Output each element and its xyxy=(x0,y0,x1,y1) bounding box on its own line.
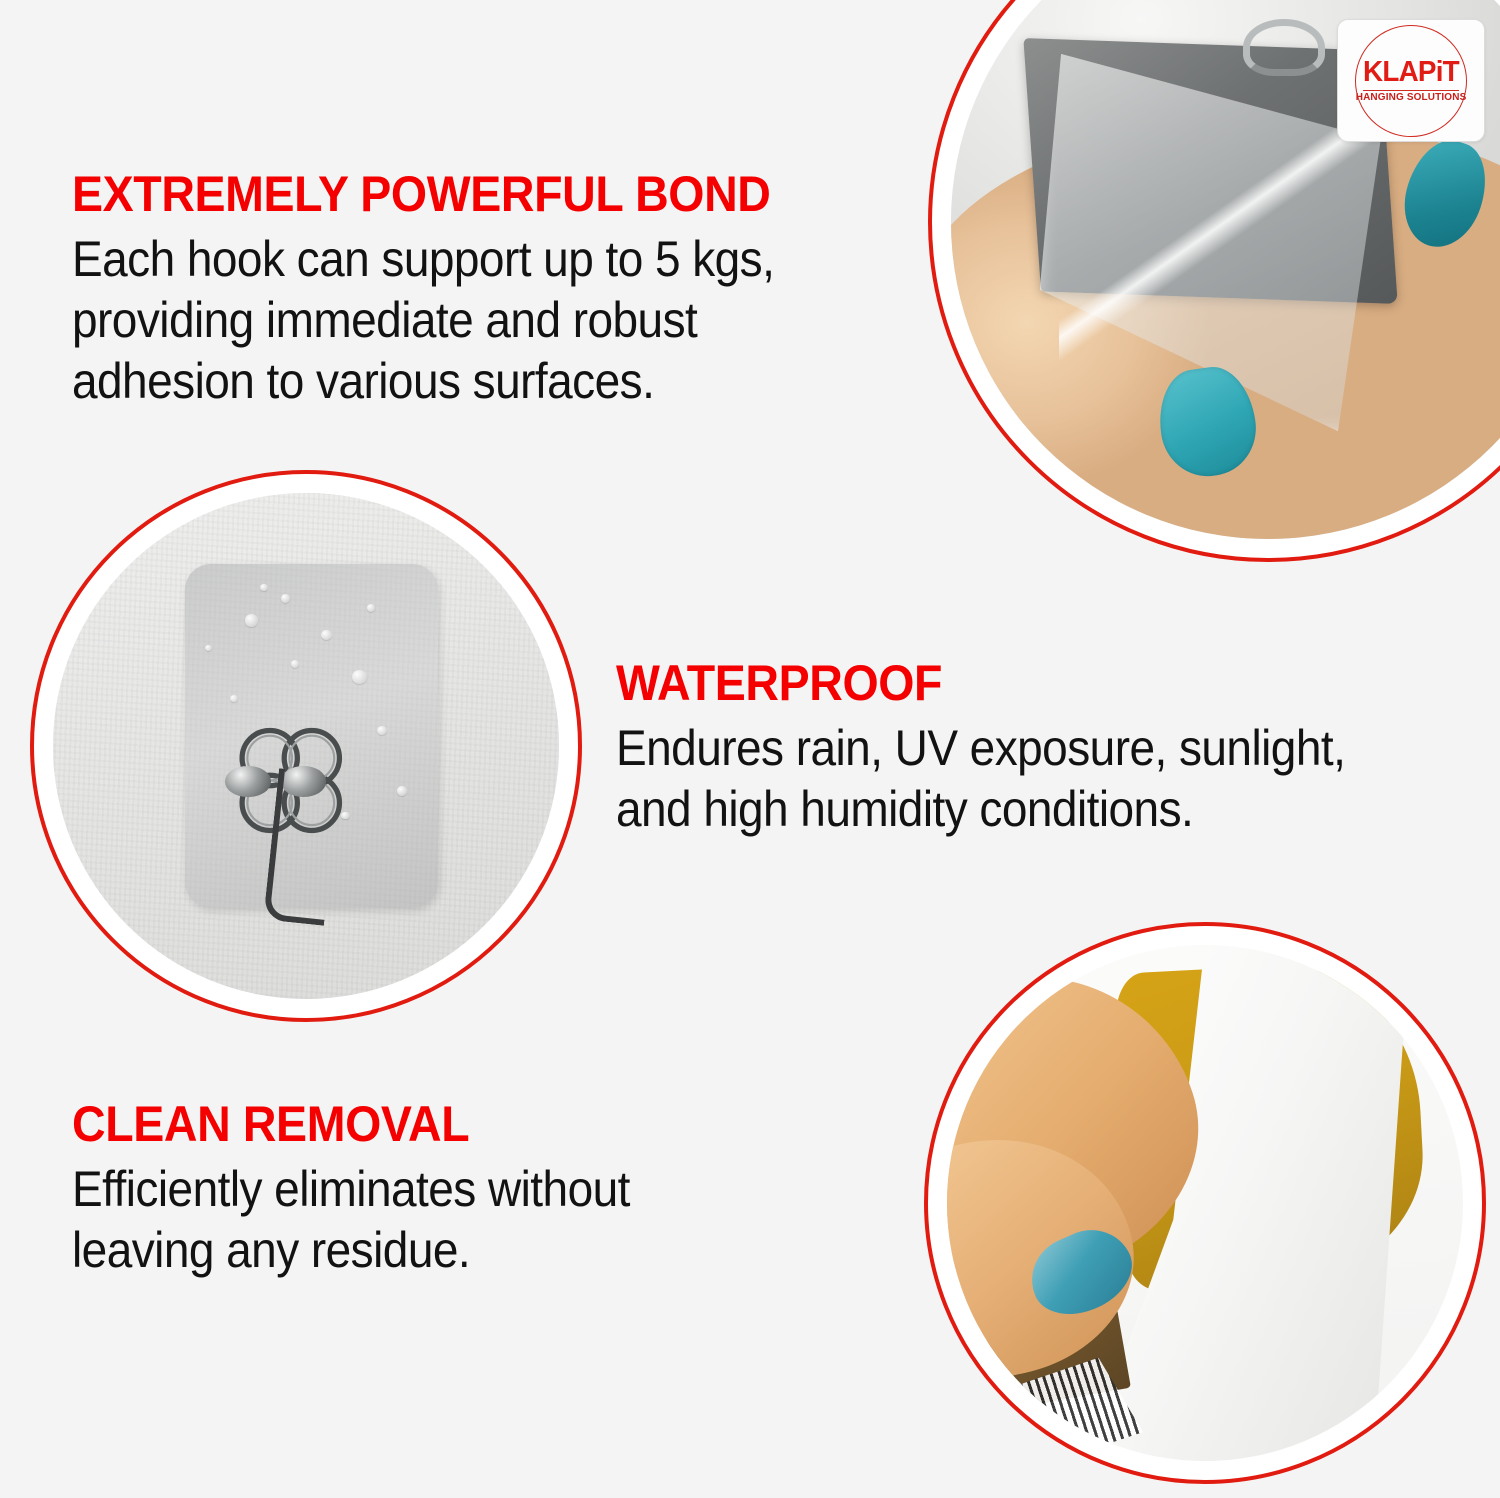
feature-body-line: providing immediate and robust xyxy=(72,290,900,351)
brand-tagline: HANGING SOLUTIONS xyxy=(1356,93,1467,103)
brand-name: KLAPiT xyxy=(1363,58,1459,87)
brand-logo: KLAPiT HANGING SOLUTIONS xyxy=(1337,19,1485,142)
water-droplet xyxy=(245,614,258,626)
feature-heading-waterproof: WATERPROOF xyxy=(616,657,1434,710)
feature-body-line: Each hook can support up to 5 kgs, xyxy=(72,229,900,290)
feature-body-line: and high humidity conditions. xyxy=(616,779,1426,840)
feature-image-clean-removal xyxy=(924,922,1486,1484)
hook-knob-left xyxy=(225,766,271,796)
feature-body-clean-removal: Efficiently eliminates without leaving a… xyxy=(72,1159,808,1281)
feature-image-waterproof xyxy=(30,470,582,1022)
water-droplet xyxy=(291,660,299,668)
brand-divider-rule xyxy=(1363,90,1459,92)
product-feature-infographic: EXTREMELY POWERFUL BOND Each hook can su… xyxy=(0,0,1500,1498)
feature-body-line: adhesion to various surfaces. xyxy=(72,351,900,412)
feature-block-waterproof: WATERPROOF Endures rain, UV exposure, su… xyxy=(616,657,1496,840)
feature-heading-clean-removal: CLEAN REMOVAL xyxy=(72,1098,816,1151)
water-droplet xyxy=(397,786,407,795)
feature-block-extremely-powerful-bond: EXTREMELY POWERFUL BOND Each hook can su… xyxy=(72,168,972,412)
feature-body-line: Endures rain, UV exposure, sunlight, xyxy=(616,718,1426,779)
photo-frame xyxy=(53,493,559,999)
feature-body-line: Efficiently eliminates without xyxy=(72,1159,808,1220)
water-droplet xyxy=(260,584,267,591)
feature-heading-extremely-powerful-bond: EXTREMELY POWERFUL BOND xyxy=(72,168,909,221)
feature-body-waterproof: Endures rain, UV exposure, sunlight, and… xyxy=(616,718,1426,840)
water-droplet xyxy=(281,594,290,603)
brand-logo-circle: KLAPiT HANGING SOLUTIONS xyxy=(1355,25,1467,137)
photo-frame xyxy=(947,945,1463,1461)
feature-block-clean-removal: CLEAN REMOVAL Efficiently eliminates wit… xyxy=(72,1098,872,1281)
feature-body-line: leaving any residue. xyxy=(72,1220,808,1281)
feature-body-extremely-powerful-bond: Each hook can support up to 5 kgs, provi… xyxy=(72,229,900,412)
